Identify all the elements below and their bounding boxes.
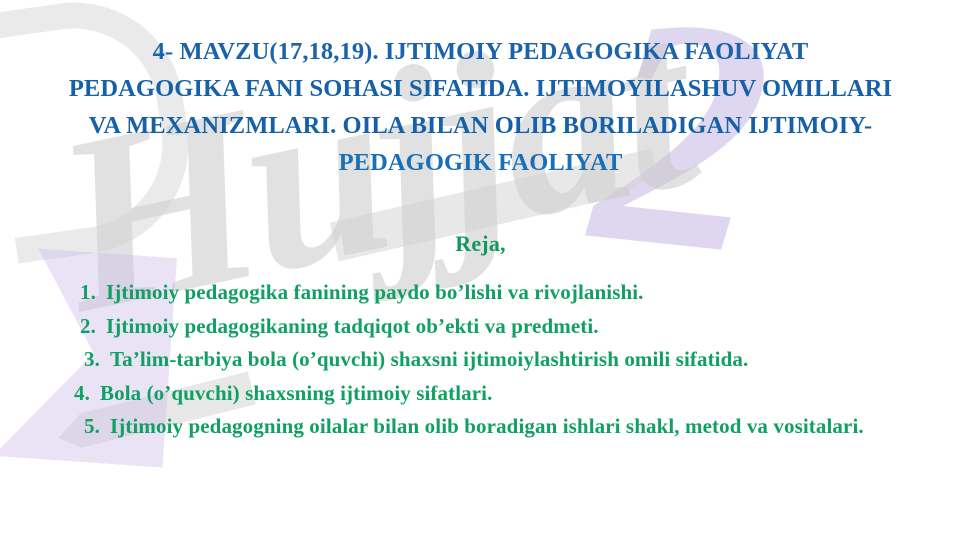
plan-item-text: Bola (o’quvchi) shaxsning ijtimoiy sifat… [100,381,492,405]
slide-content: 4- MAVZU(17,18,19). IJTIMOIY PEDAGOGIKA … [0,0,961,540]
plan-list-item: 1.Ijtimoiy pedagogika fanining paydo bo’… [82,276,912,310]
presentation-slide: 2 Hujjat 4- MAVZU(17,18,19). IJTIMOIY PE… [0,0,961,540]
plan-item-number: 3. [84,343,110,377]
slide-title: 4- MAVZU(17,18,19). IJTIMOIY PEDAGOGIKA … [8,33,953,181]
title-line-1: 4- MAVZU(17,18,19). IJTIMOIY PEDAGOGIKA … [8,33,953,70]
plan-list-item: 3.Ta’lim-tarbiya bola (o’quvchi) shaxsni… [82,343,912,377]
plan-item-number: 5. [84,410,110,444]
plan-item-text: Ta’lim-tarbiya bola (o’quvchi) shaxsni i… [110,347,748,371]
plan-list-item: 5.Ijtimoiy pedagogning oilalar bilan oli… [82,410,912,444]
plan-item-text: Ijtimoiy pedagogning oilalar bilan olib … [110,414,864,438]
title-line-3: VA MEXANIZMLARI. OILA BILAN OLIB BORILAD… [8,107,953,144]
plan-item-number: 2. [80,310,106,344]
plan-list-item: 2.Ijtimoiy pedagogikaning tadqiqot ob’ek… [82,310,912,344]
plan-item-text: Ijtimoiy pedagogika fanining paydo bo’li… [106,280,644,304]
title-line-2: PEDAGOGIKA FANI SOHASI SIFATIDA. IJTIMOY… [8,70,953,107]
plan-item-text: Ijtimoiy pedagogikaning tadqiqot ob’ekti… [106,314,599,338]
plan-item-number: 4. [74,377,100,411]
title-line-4: PEDAGOGIK FAOLIYAT [8,144,953,181]
plan-heading: Reja, [0,231,961,257]
plan-list-item: 4.Bola (o’quvchi) shaxsning ijtimoiy sif… [82,377,912,411]
plan-item-number: 1. [80,276,106,310]
plan-list: 1.Ijtimoiy pedagogika fanining paydo bo’… [82,276,912,444]
